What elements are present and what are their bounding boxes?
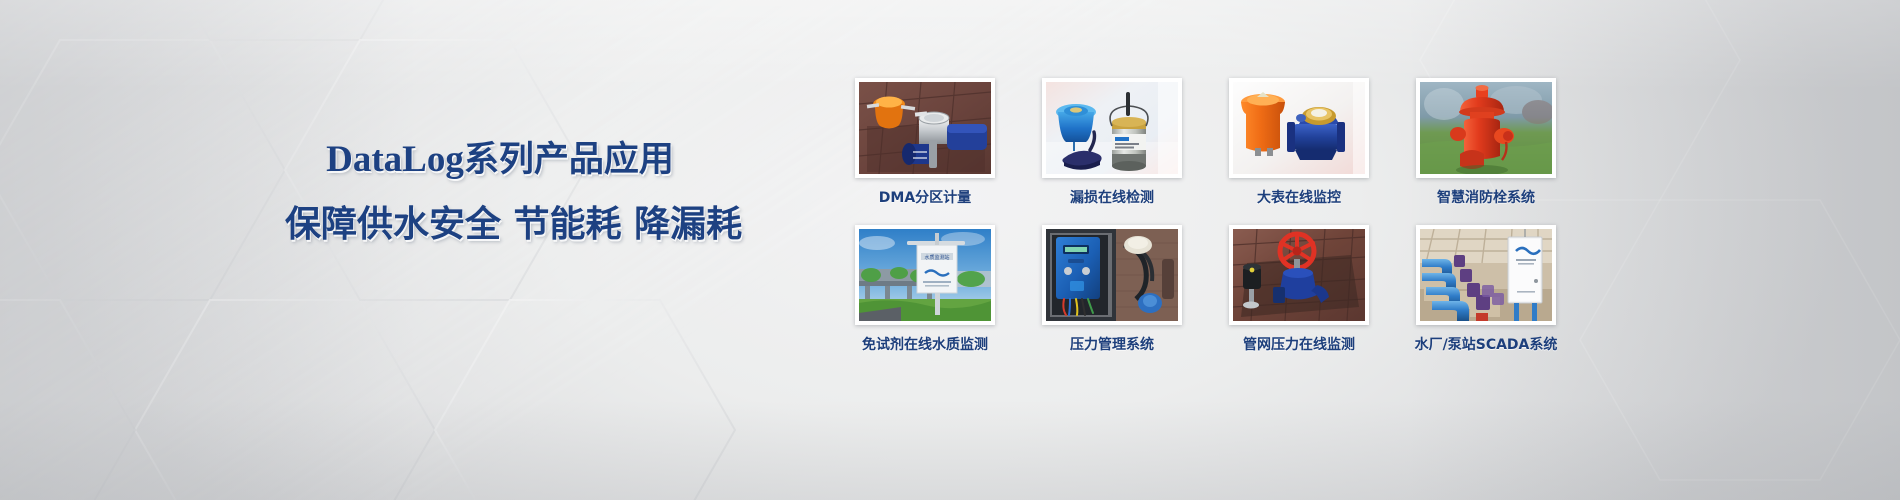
product-card[interactable]: DMA分区计量 — [855, 78, 995, 207]
product-label: 免试剂在线水质监测 — [862, 334, 988, 354]
headline-line-1-cjk: 系列产品应用 — [464, 140, 674, 180]
product-label: 漏损在线检测 — [1070, 187, 1154, 207]
product-label: 压力管理系统 — [1070, 334, 1154, 354]
product-card[interactable]: 压力管理系统 — [1042, 225, 1182, 354]
large-meter-monitoring-photo[interactable] — [1229, 78, 1369, 178]
water-quality-station-photo[interactable]: 水质监测站 — [855, 225, 995, 325]
headline-line-1: DataLog系列产品应用 — [285, 140, 715, 181]
product-label: 大表在线监控 — [1257, 187, 1341, 207]
product-card[interactable]: 水质监测站 免试剂在线水质监测 — [855, 225, 995, 354]
product-card[interactable]: 智慧消防栓系统 — [1416, 78, 1556, 207]
waterworks-scada-photo[interactable] — [1416, 225, 1556, 325]
product-card[interactable]: 水厂/泵站SCADA系统 — [1416, 225, 1556, 354]
headline-brand: DataLog — [326, 139, 464, 180]
product-card[interactable]: 大表在线监控 — [1229, 78, 1369, 207]
smart-fire-hydrant-photo[interactable] — [1416, 78, 1556, 178]
dma-metering-chamber-photo[interactable] — [855, 78, 995, 178]
product-label: 智慧消防栓系统 — [1437, 187, 1535, 207]
headline-line-2: 保障供水安全 节能耗 降漏耗 — [285, 205, 715, 245]
product-grid: DMA分区计量 — [855, 78, 1556, 354]
pressure-management-cabinet-photo[interactable] — [1042, 225, 1182, 325]
product-label: DMA分区计量 — [879, 187, 971, 207]
product-label: 水厂/泵站SCADA系统 — [1415, 334, 1558, 354]
pipe-network-pressure-photo[interactable] — [1229, 225, 1369, 325]
product-label: 管网压力在线监测 — [1243, 334, 1355, 354]
product-card[interactable]: 漏损在线检测 — [1042, 78, 1182, 207]
product-card[interactable]: 管网压力在线监测 — [1229, 225, 1369, 354]
product-application-banner: DataLog系列产品应用 保障供水安全 节能耗 降漏耗 — [0, 0, 1900, 500]
svg-text:水质监测站: 水质监测站 — [924, 254, 949, 261]
headline-block: DataLog系列产品应用 保障供水安全 节能耗 降漏耗 — [285, 140, 715, 244]
leak-detection-loggers-photo[interactable] — [1042, 78, 1182, 178]
